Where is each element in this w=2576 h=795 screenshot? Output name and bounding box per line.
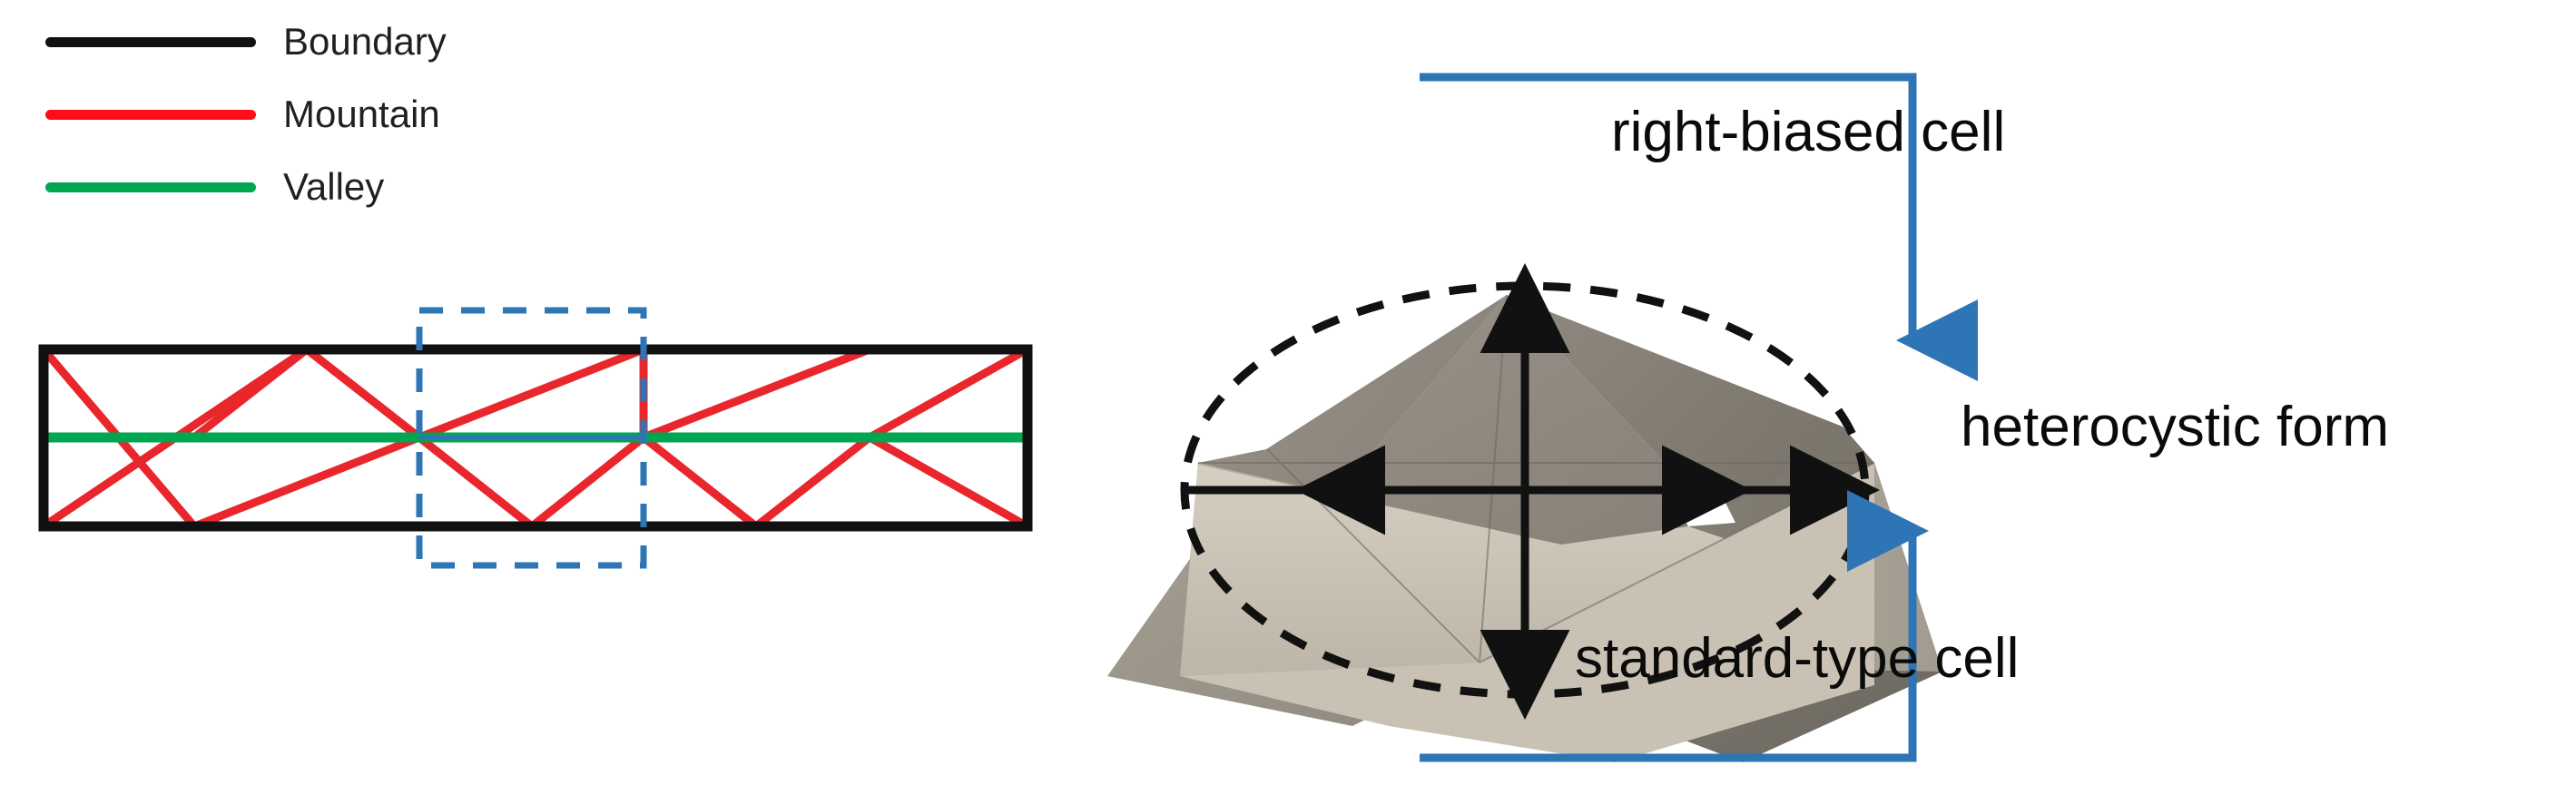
legend-item-mountain: Mountain bbox=[45, 87, 440, 142]
figure-root: Boundary Mountain Valley bbox=[0, 0, 2576, 795]
label-heterocystic-form: heterocystic form bbox=[1961, 399, 2389, 456]
legend-item-valley: Valley bbox=[45, 160, 384, 214]
model-annotation-panel: right-biased cell standard-type cell het… bbox=[1053, 36, 2576, 795]
label-standard-type-cell: standard-type cell bbox=[1575, 631, 2019, 687]
crease-pattern-diagram bbox=[27, 299, 1044, 590]
legend-item-label: Boundary bbox=[283, 23, 447, 61]
legend: Boundary Mountain Valley bbox=[45, 9, 517, 272]
crease-pattern-svg bbox=[27, 299, 1044, 590]
line-swatch-icon bbox=[45, 37, 256, 47]
legend-item-boundary: Boundary bbox=[45, 15, 447, 69]
label-right-biased-cell: right-biased cell bbox=[1611, 104, 2005, 161]
legend-item-label: Mountain bbox=[283, 95, 440, 133]
line-swatch-icon bbox=[45, 110, 256, 120]
line-swatch-icon bbox=[45, 182, 256, 192]
legend-item-label: Valley bbox=[283, 168, 384, 206]
